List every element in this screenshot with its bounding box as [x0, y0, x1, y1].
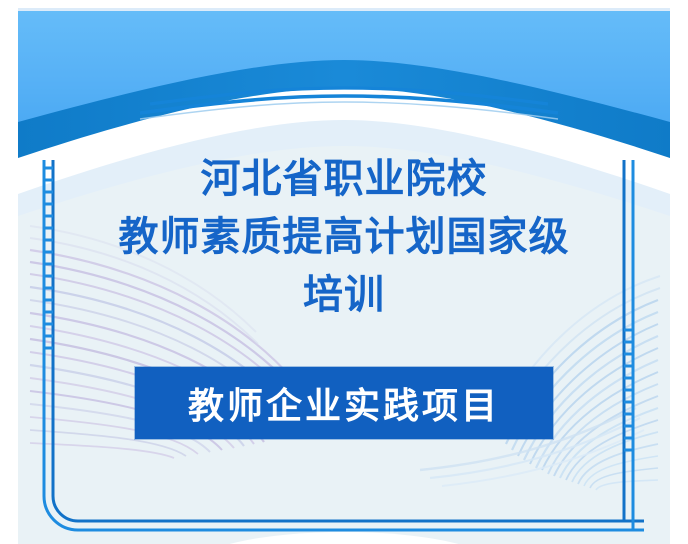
poster-root: 河北省职业院校 教师素质提高计划国家级 培训 教师企业实践项目: [0, 0, 688, 544]
title-block: 河北省职业院校 教师素质提高计划国家级 培训: [60, 150, 628, 324]
title-line-1: 河北省职业院校: [60, 150, 628, 208]
title-line-2: 教师素质提高计划国家级: [60, 208, 628, 266]
title-line-3: 培训: [60, 266, 628, 324]
project-banner: 教师企业实践项目: [135, 367, 553, 439]
project-banner-label: 教师企业实践项目: [188, 377, 500, 429]
